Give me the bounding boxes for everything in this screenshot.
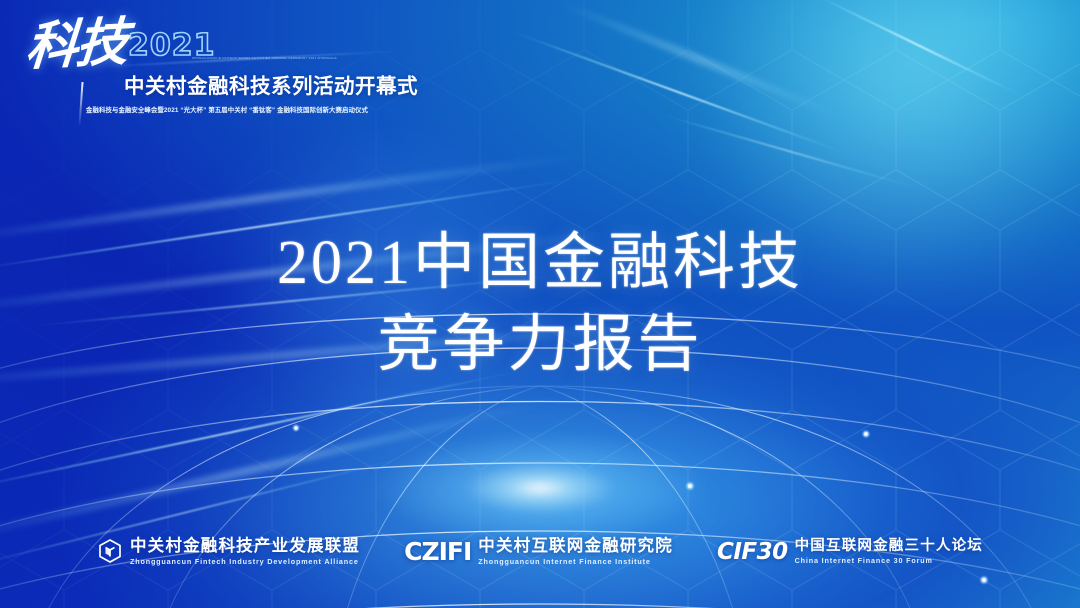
header-micro-text: ZHONGGUANCUN FINTECH SERIES ACTIVITIES O…	[192, 56, 337, 60]
logo-en-name: Zhongguancun Fintech Industry Developmen…	[130, 558, 360, 565]
header-brush-calligraphy: 科技	[24, 17, 128, 74]
logo-cn-name: 中国互联网金融三十人论坛	[795, 539, 983, 554]
logo-cn-name: 中关村互联网金融研究院	[478, 538, 673, 555]
logo-text-block: 中国互联网金融三十人论坛 China Internet Finance 30 F…	[795, 539, 983, 564]
logo-czifi: CZIFI 中关村互联网金融研究院 Zhongguancun Internet …	[404, 537, 673, 566]
poster-canvas: 科技 2021 ZHONGGUANCUN FINTECH SERIES ACTI…	[0, 0, 1080, 608]
logo-en-name: Zhongguancun Internet Finance Institute	[478, 558, 673, 565]
logo-cn-name: 中关村金融科技产业发展联盟	[130, 538, 360, 555]
logo-text-block: 中关村金融科技产业发展联盟 Zhongguancun Fintech Indus…	[130, 538, 360, 565]
header-sub-line: 金融科技与金融安全峰会暨2021 “光大杯” 第五届中关村 “番钛客” 金融科技…	[86, 108, 368, 114]
logo-text-block: 中关村互联网金融研究院 Zhongguancun Internet Financ…	[478, 538, 673, 565]
event-header-logo: 科技 2021 ZHONGGUANCUN FINTECH SERIES ACTI…	[24, 22, 354, 104]
header-main-line: 中关村金融科技系列活动开幕式	[124, 77, 418, 98]
czifi-wordmark-icon: CZIFI	[404, 537, 471, 566]
logo-zgc-fintech-alliance: 中关村金融科技产业发展联盟 Zhongguancun Fintech Indus…	[97, 538, 360, 565]
logo-cif30: CIF30 中国互联网金融三十人论坛 China Internet Financ…	[717, 539, 983, 565]
cif30-wordmark-icon: CIF30	[717, 539, 788, 565]
cube-logo-mark-icon	[97, 538, 123, 564]
logo-en-name: China Internet Finance 30 Forum	[795, 557, 983, 564]
partner-logo-bar: 中关村金融科技产业发展联盟 Zhongguancun Fintech Indus…	[0, 537, 1080, 566]
